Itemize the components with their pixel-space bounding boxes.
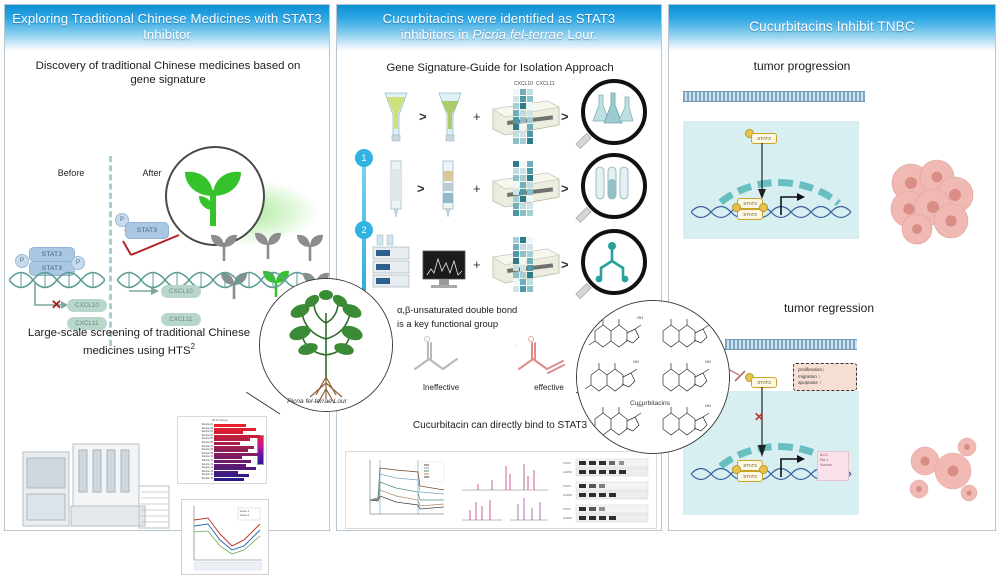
heatmap-cell [527,189,533,195]
hts-bar-label: Sample 04 [179,434,213,437]
svg-text:O: O [528,335,534,344]
plant-caption-italic: Picria fel-terrae [287,398,332,405]
heatmap-cell [520,251,526,257]
cucurbitacins-structures-circle: OHOH OHOH OHOH [576,300,730,454]
heatmap-cell [527,131,533,137]
heatmap-cell [520,182,526,188]
heatmap-cell [527,138,533,144]
hts-bar-chart: HTS² screen Sample 01Sample 02Sample 03S… [177,416,267,484]
heatmap-cell [513,168,519,174]
svg-text:|: | [515,343,516,348]
svg-text:GAPDH: GAPDH [563,470,572,474]
heatmap-cell [520,279,526,285]
plant-caption: Picria fel-terrae Lour [262,398,372,405]
gene-readout-box: Bcl-2 Mcl-1 Survivin [817,451,849,481]
sprout-gray-3 [295,229,325,263]
svg-text:O: O [424,335,430,344]
heatmap-cell [527,168,533,174]
magnifier-handle-3 [575,283,591,299]
hts-bar [214,435,260,438]
gene-chip-cxcl10-before: CXCL10 [67,299,107,312]
hts-bar-label: Sample 10 [179,455,213,458]
panel-left-body: Discovery of traditional Chinese medicin… [5,51,329,532]
heatmap-cell [527,161,533,167]
hts-bar-label: Sample 16 [179,477,213,480]
heatmap-cell [520,168,526,174]
heatmap-cell [520,272,526,278]
heatmap-cell [527,89,533,95]
hts-color-scale [257,435,264,465]
heatmap-cell [513,110,519,116]
heatmap-cell [527,110,533,116]
hts-bar [214,449,248,452]
heatmap-cell [527,103,533,109]
figure-mass-spectra [458,456,550,524]
hts-bar-label: Sample 15 [179,473,213,476]
gene-chip-cxcl11-after: CXCL11 [161,313,201,326]
plant-leader-line [246,392,286,418]
tumor-cells-regressed [899,431,985,511]
heatmap-cell [527,286,533,292]
phospho-gold-dna-top-left [732,203,741,212]
heatmap-cell [527,279,533,285]
heatmap-cell [520,89,526,95]
graphical-abstract: Exploring Traditional Chinese Medicines … [0,0,1000,535]
heatmap-cell [520,161,526,167]
tumor-progression-title: tumor progression [687,59,917,73]
heatmap-cell [527,175,533,181]
hts-bar-label: Sample 09 [179,452,213,455]
phospho-gold-dna-top-right [759,203,768,212]
left-section1-title: Discovery of traditional Chinese medicin… [23,59,313,87]
picria-plant-illustration [260,279,392,411]
panel-middle-title: Cucurbitacins were identified as STAT3 i… [383,5,616,43]
heatmap-cell [520,286,526,292]
heatmap-cell [513,175,519,181]
magnifier-tubes [581,153,647,219]
cucurbitacin-structures: OHOH OHOH OHOH [577,301,729,453]
hts-instrument-icon [21,436,171,532]
heatmap-cell [527,124,533,130]
hts-bar [214,442,240,445]
hts-superscript: 2 [191,342,195,351]
hts-bar [214,471,238,474]
heatmap-cell [527,196,533,202]
heatmap-cell [520,244,526,250]
heatmap-cell [520,210,526,216]
middle-section-title: Gene Signature-Guide for Isolation Appro… [353,61,647,75]
hts-bar [214,446,254,449]
hts-bar-label: Sample 08 [179,448,213,451]
heatmap-cell [513,286,519,292]
panel-middle-body: Gene Signature-Guide for Isolation Appro… [337,51,661,532]
separatory-funnel-2 [433,89,467,145]
heatmap-cell [520,237,526,243]
heatmap-cell [520,117,526,123]
hts-bar-label: Sample 06 [179,441,213,444]
bottom-figures-strip: STAT3GAPDH STAT3GAPDH STAT3GAPDH [345,451,657,529]
gene-readout-3: Survivin [820,463,846,468]
heatmap-cell [527,203,533,209]
heatmap-cell [513,161,519,167]
chem-functional-group-title: α,β-unsaturated double bond is a key fun… [397,303,577,331]
magnifier-flasks [581,79,647,145]
heatmap-1 [513,89,533,144]
heatmap-cell [513,279,519,285]
heatmap-cell [527,244,533,250]
phospho-gold-dna-bottom-left [732,465,741,474]
transcription-start-arrow-bottom [779,455,805,479]
binding-title: Cucurbitacin can directly bind to STAT3 [375,419,625,433]
heatmap-cell [520,96,526,102]
heatmap-cell [520,265,526,271]
left-spr-plot: series 1series 2 [181,499,269,575]
panel-right: Cucurbitacins Inhibit TNBC tumor progres… [668,4,996,531]
hts-bar [214,478,244,481]
heatmap-cell [520,110,526,116]
svg-text:OH: OH [705,403,711,408]
chem-label-ineffective: Ineffective [399,383,483,392]
svg-text:STAT3: STAT3 [563,461,571,465]
hts-bar-label: Sample 07 [179,445,213,448]
hts-bar [214,456,242,459]
hplc-monitor-icon [421,249,467,291]
left-section2-title: Large-scale screening of traditional Chi… [19,326,259,358]
operator-plus-1: + [473,109,481,124]
heatmap-cell [520,175,526,181]
heatmap-cell [513,265,519,271]
panel-right-title: Cucurbitacins Inhibit TNBC [749,5,915,35]
heatmap-cell [527,210,533,216]
step-1-badge: 1 [355,149,373,167]
svg-text:OH: OH [705,359,711,364]
hts-bar [214,424,246,427]
heatmap-cell [513,196,519,202]
heatmap-cell [513,251,519,257]
heatmap-cell [513,258,519,264]
heatmap-cell [527,182,533,188]
heatmap-cell [513,103,519,109]
sprout-gray-2 [253,227,283,261]
heatmap-cell [513,189,519,195]
operator-gt-1: > [419,109,427,124]
nuclear-dna-top [691,199,855,225]
tumor-mass-large [885,159,981,247]
heatmap-cell [513,124,519,130]
heatmap-cell [527,251,533,257]
membrane-top [683,91,865,102]
heatmap-label-cxcl11: CXCL11 [536,81,555,87]
hts-bar [214,428,256,431]
hts-bar [214,474,249,477]
stat3-chip-before-top: STAT3 [29,247,75,262]
panel-left-header: Exploring Traditional Chinese Medicines … [5,5,329,51]
heatmap-3 [513,237,533,292]
tumor-regression-title: tumor regression [729,301,929,315]
phenotype-line-3: apoptosis ↑ [798,380,852,387]
hts-bar-label: Sample 14 [179,470,213,473]
heatmap-cell [513,182,519,188]
stat3-dna-bottom-2: STAT3 [737,471,763,482]
blocked-x-icon: ✕ [51,298,62,311]
heatmap-cell [527,96,533,102]
heatmap-cell [527,258,533,264]
heatmap-cell [513,203,519,209]
structure-ineffective: O [409,333,473,377]
separatory-funnel-1 [379,89,413,145]
blocked-translocation-x-icon: ✕ [754,411,764,423]
hts-bar-label: Sample 05 [179,437,213,440]
heatmap-cell [520,131,526,137]
plant-photo-circle [259,278,393,412]
operator-gt-2: > [561,109,569,124]
figure-western-blots: STAT3GAPDH STAT3GAPDH STAT3GAPDH [562,456,652,524]
panel-right-header: Cucurbitacins Inhibit TNBC [669,5,995,51]
heatmap-cell [527,117,533,123]
cucurbitacins-caption: Cucurbitacins [600,400,700,407]
heatmap-cell [527,272,533,278]
heatmap-cell [513,138,519,144]
heatmap-cell [527,265,533,271]
structure-effective: O | [513,333,583,377]
panel-left: Exploring Traditional Chinese Medicines … [4,4,330,531]
heatmap-cell [520,258,526,264]
heatmap-cell [513,89,519,95]
hts-bar-label: Sample 02 [179,427,213,430]
transcription-arrow-after [127,285,163,311]
panel-middle-header: Cucurbitacins were identified as STAT3 i… [337,5,661,51]
hts-bar [214,453,258,456]
hts-bar [214,460,251,463]
panel-middle: Cucurbitacins were identified as STAT3 i… [336,4,662,531]
hts-bar-label: Sample 13 [179,466,213,469]
svg-text:STAT3: STAT3 [563,484,571,488]
svg-text:series 2: series 2 [240,513,250,517]
heatmap-cell [513,244,519,250]
hts-bar-label: Sample 01 [179,423,213,426]
hts-bar [214,431,243,434]
heatmap-cell [520,124,526,130]
phenotype-box: proliferation↓ migration ↓ apoptosis ↑ [793,363,857,391]
heatmap-cell [513,117,519,123]
stat3-dna-top-2: STAT3 [737,209,763,220]
operator-gt-5: > [561,257,569,272]
heatmap-cell [513,210,519,216]
panel-left-title: Exploring Traditional Chinese Medicines … [5,5,329,43]
hts-bar [214,464,246,467]
operator-gt-4: > [561,181,569,196]
heatmap-label-cxcl10: CXCL10 [514,81,533,87]
heatmap-cell [520,203,526,209]
hts-bar-label: Sample 12 [179,463,213,466]
heatmap-cell [520,189,526,195]
sprout-gray-1 [209,229,239,263]
hts-bar-label: Sample 11 [179,459,213,462]
svg-text:series 1: series 1 [240,509,250,513]
svg-text:GAPDH: GAPDH [563,493,572,497]
svg-text:STAT3: STAT3 [563,507,571,511]
heatmap-cell [520,196,526,202]
svg-text:GAPDH: GAPDH [563,516,572,520]
heatmap-cell [513,237,519,243]
before-label: Before [41,166,101,180]
heatmap-2 [513,161,533,216]
hts-chart-title: HTS² screen [212,418,228,422]
gene-chip-cxcl10-after: CXCL10 [161,285,201,298]
svg-text:OH: OH [633,359,639,364]
magnifier-molecule [581,229,647,295]
heatmap-cell [527,237,533,243]
transcription-start-arrow-top [779,193,805,217]
membrane-bottom [725,339,857,350]
plant-caption-post: Lour [332,398,347,405]
operator-plus-2: + [473,181,481,196]
figure-spr-sensorgram [356,456,448,524]
chromatography-column-1 [383,159,409,221]
heatmap-cell [513,272,519,278]
panel-right-body: tumor progression STAT3 STAT3 STAT3 [669,51,995,532]
svg-text:OH: OH [637,315,643,320]
hts-bar [214,467,256,470]
chromatography-column-2 [435,159,461,221]
heatmap-cell [513,131,519,137]
hts-bar-label: Sample 03 [179,430,213,433]
heatmap-cell [513,96,519,102]
magnifier-handle-2 [575,207,591,223]
operator-plus-3: + [473,257,481,272]
heatmap-cell [520,103,526,109]
operator-gt-3: > [417,181,425,196]
translocation-arrow-top [755,143,769,201]
heatmap-cell [520,138,526,144]
stat3-chip-after: STAT3 [125,222,169,239]
magnifier-handle-1 [575,133,591,149]
hplc-stack-icon [369,233,421,291]
hts-bar [214,438,250,441]
phospho-gold-dna-bottom-right [759,465,768,474]
